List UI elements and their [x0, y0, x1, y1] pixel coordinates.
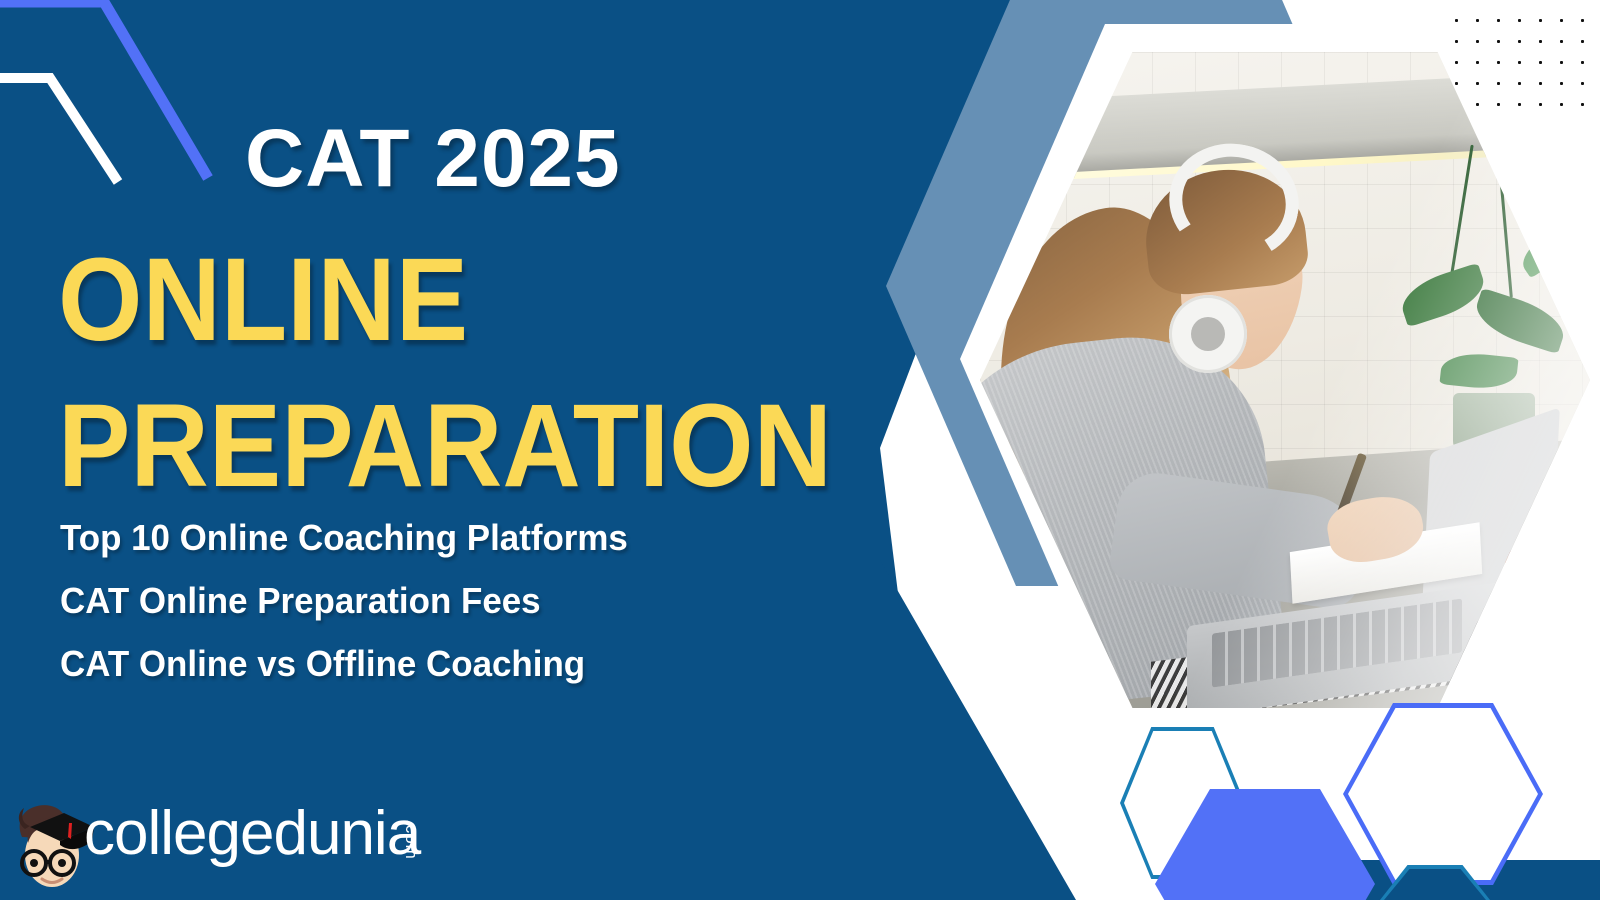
logo-wordmark: collegedunia — [84, 803, 420, 865]
list-item: Top 10 Online Coaching Platforms — [60, 520, 628, 556]
logo-tld: .com — [403, 819, 420, 860]
kicker-title: CAT 2025 — [245, 112, 621, 206]
list-item: CAT Online vs Offline Coaching — [60, 646, 628, 682]
list-item: CAT Online Preparation Fees — [60, 583, 628, 619]
bullet-list: Top 10 Online Coaching Platforms CAT Onl… — [60, 520, 645, 709]
graduate-mascot-icon — [8, 793, 94, 893]
headline-line-1: ONLINE — [58, 232, 468, 368]
collegedunia-logo[interactable]: collegedunia .com — [8, 793, 438, 893]
dot-grid-icon — [1440, 4, 1590, 109]
text-content: CAT 2025 ONLINE PREPARATION Top 10 Onlin… — [0, 0, 880, 900]
headline-line-2: PREPARATION — [58, 378, 832, 514]
poster-canvas: CAT 2025 ONLINE PREPARATION Top 10 Onlin… — [0, 0, 1600, 900]
